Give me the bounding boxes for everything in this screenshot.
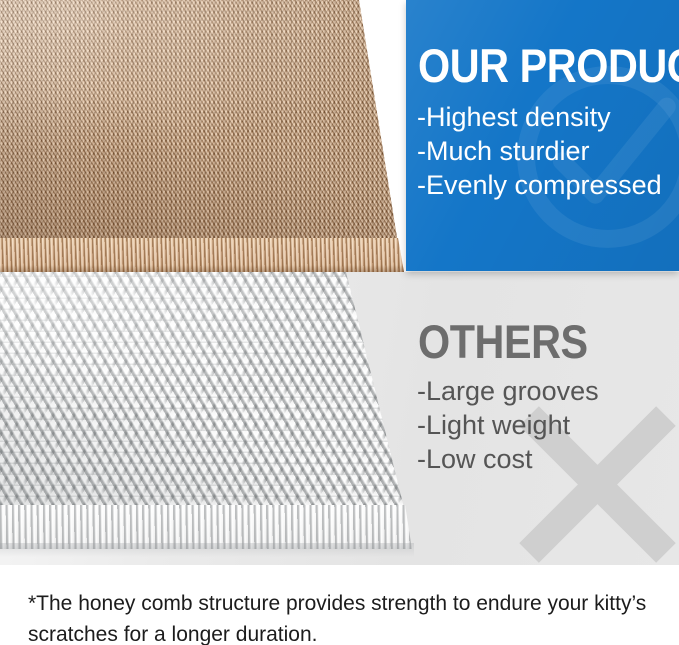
- comparison-photo-area: OUR PRODUCT -Highest density -Much sturd…: [0, 0, 679, 565]
- grey-shading-overlay: [0, 272, 414, 512]
- others-photo-dropshadow: [0, 543, 414, 557]
- our-product-fluted-edge: [0, 238, 410, 274]
- others-heading: OTHERS: [418, 318, 588, 365]
- infographic-root: OUR PRODUCT -Highest density -Much sturd…: [0, 0, 679, 645]
- our-product-bullet: -Highest density: [417, 100, 662, 134]
- our-product-bullet: -Evenly compressed: [417, 168, 662, 202]
- our-product-heading: OUR PRODUCT: [418, 42, 679, 89]
- footer-note: *The honey comb structure provides stren…: [28, 588, 658, 645]
- others-bullet: -Large grooves: [417, 374, 599, 408]
- our-product-bullet-list: -Highest density -Much sturdier -Evenly …: [417, 100, 662, 202]
- others-bullet-list: -Large grooves -Light weight -Low cost: [417, 374, 599, 476]
- tan-shading-overlay: [0, 0, 406, 244]
- footer-area: *The honey comb structure provides stren…: [0, 565, 679, 645]
- others-bullet: -Light weight: [417, 408, 599, 442]
- our-product-photo: [0, 0, 406, 244]
- others-bullet: -Low cost: [417, 442, 599, 476]
- others-product-photo: [0, 272, 414, 512]
- our-product-bullet: -Much sturdier: [417, 134, 662, 168]
